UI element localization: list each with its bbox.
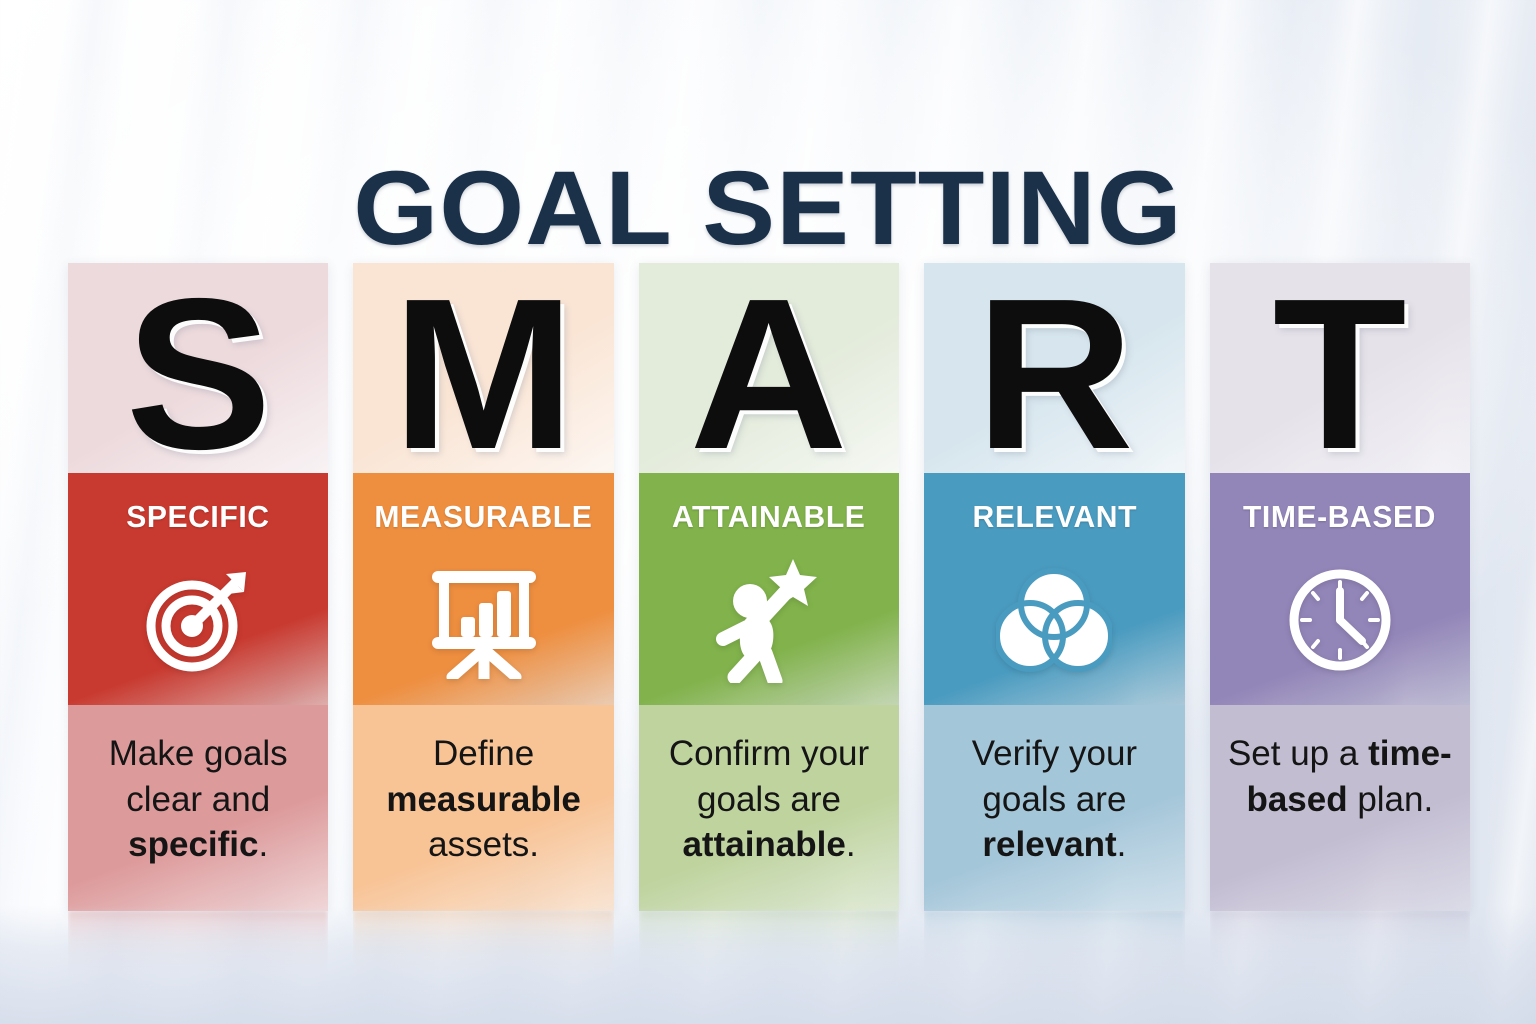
floor-gradient	[0, 905, 1536, 1024]
description-suffix: assets.	[428, 825, 539, 864]
column-reflection	[639, 911, 899, 1003]
category-band: MEASURABLE	[353, 473, 613, 705]
description-suffix: .	[1117, 825, 1127, 864]
category-label: RELEVANT	[972, 499, 1136, 535]
description-panel: Verify your goals are relevant.	[924, 705, 1184, 911]
description-panel: Make goals clear and specific.	[68, 705, 328, 911]
description-text: Make goals clear and specific.	[82, 731, 314, 868]
category-band: TIME-BASED	[1210, 473, 1470, 705]
letter-panel: M	[353, 263, 613, 473]
presentation-chart-icon	[353, 535, 613, 705]
description-keyword: attainable	[682, 825, 845, 864]
letter-panel: T	[1210, 263, 1470, 473]
category-label: MEASURABLE	[375, 499, 593, 535]
description-panel: Confirm your goals are attainable.	[639, 705, 899, 911]
smart-columns: S SPECIFIC Make goals clear and specific…	[68, 263, 1470, 911]
infographic-stage: GOAL SETTING S SPECIFIC Make goals clear…	[0, 0, 1536, 1024]
description-panel: Define measurable assets.	[353, 705, 613, 911]
description-panel: Set up a time-based plan.	[1210, 705, 1470, 911]
column-reflection	[1210, 911, 1470, 1003]
acronym-letter: T	[1273, 275, 1407, 473]
description-prefix: Set up a	[1228, 734, 1368, 773]
smart-column-measurable: M MEASURABLE Define measurable assets.	[353, 263, 613, 911]
smart-column-attainable: A ATTAINABLE Confirm your goals are atta…	[639, 263, 899, 911]
category-label: TIME-BASED	[1243, 499, 1436, 535]
smart-column-time-based: T TIME-BASED	[1210, 263, 1470, 911]
description-text: Define measurable assets.	[367, 731, 599, 868]
category-band: SPECIFIC	[68, 473, 328, 705]
description-keyword: relevant	[982, 825, 1116, 864]
description-text: Set up a time-based plan.	[1224, 731, 1456, 822]
category-label: SPECIFIC	[127, 499, 270, 535]
category-band: ATTAINABLE	[639, 473, 899, 705]
venn-circles-icon	[924, 535, 1184, 705]
category-band: RELEVANT	[924, 473, 1184, 705]
description-text: Confirm your goals are attainable.	[653, 731, 885, 868]
acronym-letter: M	[392, 275, 575, 473]
column-reflection	[353, 911, 613, 1003]
letter-panel: S	[68, 263, 328, 473]
letter-panel: R	[924, 263, 1184, 473]
column-reflection	[68, 911, 328, 1003]
smart-column-relevant: R RELEVANT Verify your goals are relevan…	[924, 263, 1184, 911]
acronym-letter: A	[690, 275, 848, 473]
description-prefix: Make goals clear and	[109, 734, 288, 819]
category-label: ATTAINABLE	[672, 499, 865, 535]
acronym-letter: R	[975, 275, 1133, 473]
description-prefix: Define	[433, 734, 534, 773]
page-title: GOAL SETTING	[0, 156, 1536, 261]
description-prefix: Verify your goals are	[972, 734, 1137, 819]
clock-icon	[1210, 535, 1470, 705]
description-suffix: .	[846, 825, 856, 864]
description-suffix: plan.	[1348, 780, 1434, 819]
column-reflection	[924, 911, 1184, 1003]
description-keyword: measurable	[386, 780, 581, 819]
target-icon	[68, 535, 328, 705]
person-reaching-star-icon	[639, 535, 899, 705]
description-keyword: specific	[128, 825, 258, 864]
description-suffix: .	[259, 825, 269, 864]
letter-panel: A	[639, 263, 899, 473]
description-text: Verify your goals are relevant.	[938, 731, 1170, 868]
acronym-letter: S	[125, 275, 271, 473]
smart-column-specific: S SPECIFIC Make goals clear and specific…	[68, 263, 328, 911]
description-prefix: Confirm your goals are	[669, 734, 869, 819]
